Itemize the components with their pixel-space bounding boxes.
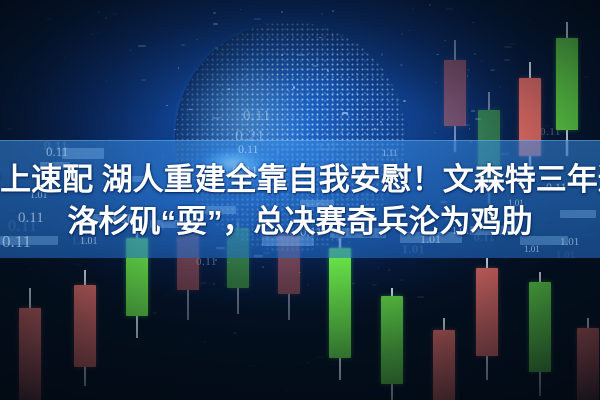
band-top-edge (0, 140, 600, 141)
band-bar (262, 236, 314, 246)
band-bar (40, 162, 70, 169)
band-bar (300, 200, 334, 207)
band-bar (330, 228, 386, 238)
band-number: 1.01 (80, 236, 98, 247)
band-bar (62, 148, 104, 159)
band-bar (196, 206, 236, 214)
band-number: 1.11 (382, 148, 397, 158)
band-number: 0.11 (18, 210, 44, 227)
band-number: 0.11 (238, 142, 259, 157)
banner-image: 0.111.010.111.011.010.111.010.111.010.11… (0, 0, 600, 400)
band-number: 1.01 (30, 190, 48, 201)
band-bar (560, 210, 596, 218)
band-number: 0.21 (232, 164, 258, 181)
headline-band: 0.111.010.110.111.011.010.110.211.110.11… (0, 140, 600, 258)
band-bar (400, 232, 462, 243)
band-bar (84, 214, 132, 223)
band-bar (520, 236, 568, 245)
band-bar (118, 176, 144, 182)
band-bar (470, 226, 520, 235)
band-number: 1.01 (524, 244, 540, 254)
band-number: 0.11 (546, 180, 567, 195)
band-number: 1.01 (508, 198, 524, 208)
band-bar (0, 236, 58, 245)
band-bar (150, 220, 194, 228)
